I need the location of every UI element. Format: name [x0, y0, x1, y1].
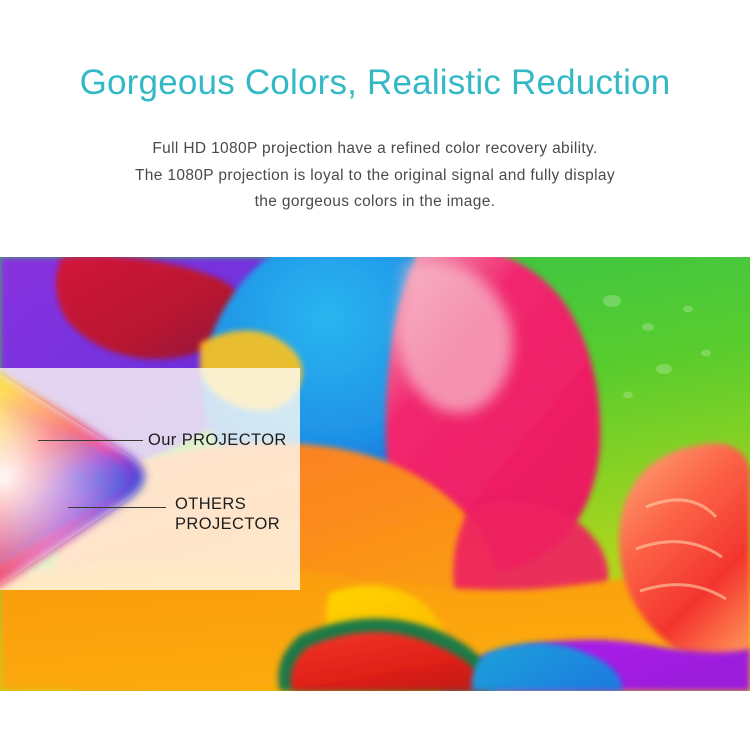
callout-label-others-projector: OTHERS PROJECTOR	[175, 494, 280, 534]
leader-line-others-projector	[68, 507, 166, 508]
description-line-1: Full HD 1080P projection have a refined …	[0, 136, 750, 163]
header-section: Gorgeous Colors, Realistic Reduction Ful…	[0, 0, 750, 257]
callout-label-our-projector: Our PROJECTOR	[148, 430, 287, 450]
description-line-2: The 1080P projection is loyal to the ori…	[0, 163, 750, 190]
leader-line-our-projector	[38, 440, 143, 441]
callout-others-line-2: PROJECTOR	[175, 514, 280, 534]
description-paragraph: Full HD 1080P projection have a refined …	[0, 136, 750, 216]
gamut-comparison-panel	[0, 368, 300, 590]
marketing-page: Gorgeous Colors, Realistic Reduction Ful…	[0, 0, 750, 750]
gamut-core-fade	[0, 368, 144, 589]
description-line-3: the gorgeous colors in the image.	[0, 189, 750, 216]
color-gamut-triangle	[0, 368, 182, 590]
page-title: Gorgeous Colors, Realistic Reduction	[0, 62, 750, 104]
callout-others-line-1: OTHERS	[175, 494, 280, 514]
